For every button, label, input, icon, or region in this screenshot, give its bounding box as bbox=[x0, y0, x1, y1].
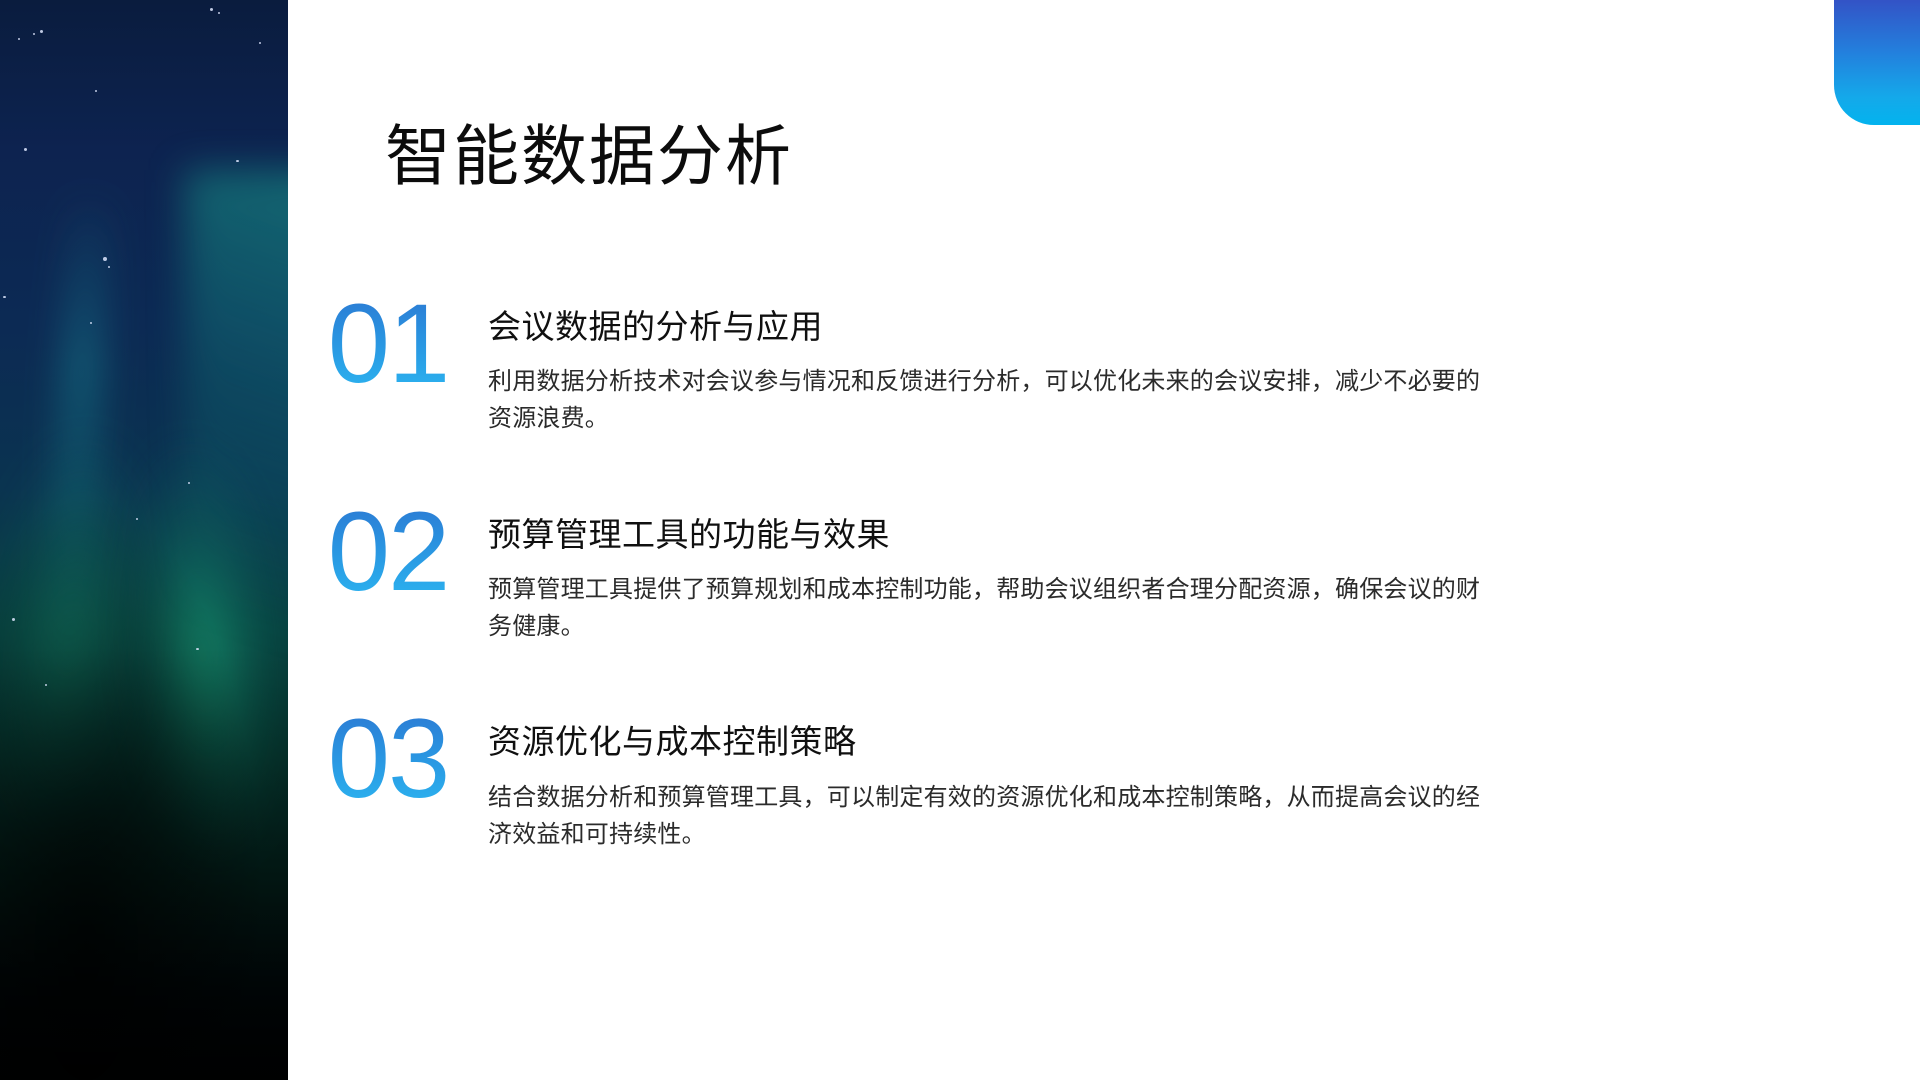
aurora-photo-strip bbox=[0, 0, 288, 1080]
numbered-item-list: 01 会议数据的分析与应用 利用数据分析技术对会议参与情况和反馈进行分析，可以优… bbox=[288, 290, 1920, 913]
list-item: 02 预算管理工具的功能与效果 预算管理工具提供了预算规划和成本控制功能，帮助会… bbox=[288, 498, 1920, 646]
slide-root: 智能数据分析 01 会议数据的分析与应用 利用数据分析技术对会议参与情况和反馈进… bbox=[0, 0, 1920, 1080]
star-icon bbox=[196, 648, 199, 650]
star-icon bbox=[188, 482, 190, 484]
star-icon bbox=[95, 90, 97, 92]
star-icon bbox=[103, 257, 107, 261]
item-description-01: 利用数据分析技术对会议参与情况和反馈进行分析，可以优化未来的会议安排，减少不必要… bbox=[488, 363, 1488, 437]
aurora-vignette bbox=[0, 0, 288, 1080]
item-description-02: 预算管理工具提供了预算规划和成本控制功能，帮助会议组织者合理分配资源，确保会议的… bbox=[488, 571, 1488, 645]
star-icon bbox=[18, 38, 20, 40]
slide-content: 智能数据分析 01 会议数据的分析与应用 利用数据分析技术对会议参与情况和反馈进… bbox=[288, 0, 1920, 1080]
star-icon bbox=[12, 618, 15, 621]
item-number-02: 02 bbox=[288, 498, 488, 603]
page-title: 智能数据分析 bbox=[385, 119, 793, 195]
star-icon bbox=[90, 322, 92, 324]
item-number-01: 01 bbox=[288, 290, 488, 395]
item-number-03: 03 bbox=[288, 705, 488, 810]
star-icon bbox=[33, 33, 35, 35]
list-item: 03 资源优化与成本控制策略 结合数据分析和预算管理工具，可以制定有效的资源优化… bbox=[288, 705, 1920, 853]
star-icon bbox=[136, 518, 138, 520]
star-icon bbox=[3, 296, 6, 298]
list-item-body: 会议数据的分析与应用 利用数据分析技术对会议参与情况和反馈进行分析，可以优化未来… bbox=[488, 290, 1920, 438]
list-item: 01 会议数据的分析与应用 利用数据分析技术对会议参与情况和反馈进行分析，可以优… bbox=[288, 290, 1920, 438]
item-heading-03: 资源优化与成本控制策略 bbox=[488, 721, 1864, 762]
star-icon bbox=[259, 42, 261, 44]
star-icon bbox=[108, 266, 110, 268]
star-icon bbox=[40, 30, 43, 33]
list-item-body: 资源优化与成本控制策略 结合数据分析和预算管理工具，可以制定有效的资源优化和成本… bbox=[488, 705, 1920, 853]
star-icon bbox=[45, 684, 47, 686]
star-icon bbox=[24, 148, 27, 151]
item-heading-02: 预算管理工具的功能与效果 bbox=[488, 514, 1864, 555]
star-icon bbox=[218, 12, 220, 14]
item-heading-01: 会议数据的分析与应用 bbox=[488, 306, 1864, 347]
list-item-body: 预算管理工具的功能与效果 预算管理工具提供了预算规划和成本控制功能，帮助会议组织… bbox=[488, 498, 1920, 646]
star-icon bbox=[236, 160, 239, 162]
item-description-03: 结合数据分析和预算管理工具，可以制定有效的资源优化和成本控制策略，从而提高会议的… bbox=[488, 779, 1488, 853]
star-icon bbox=[210, 8, 213, 11]
